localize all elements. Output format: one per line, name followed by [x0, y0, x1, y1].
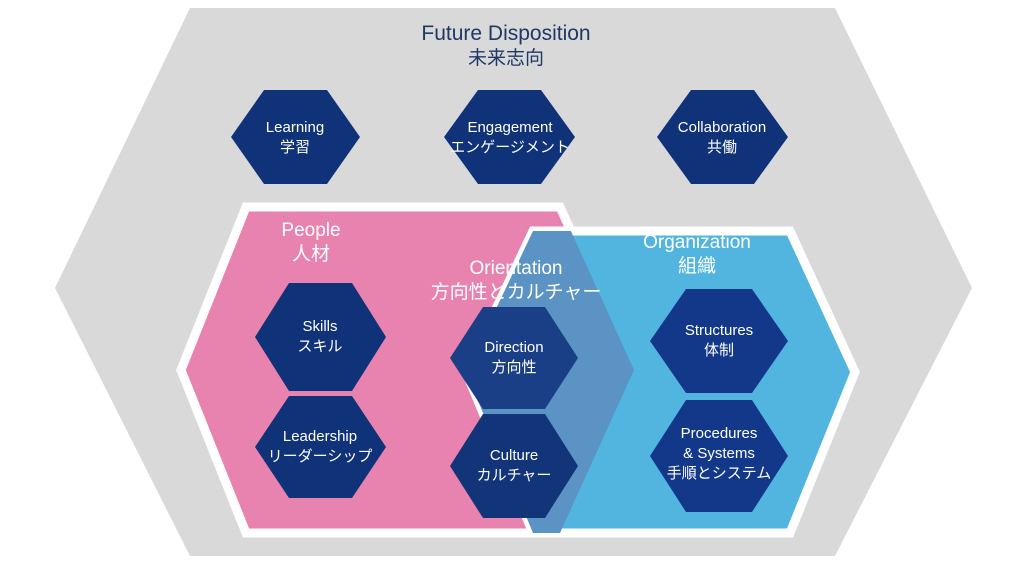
page-title-en: Future Disposition: [421, 22, 590, 45]
node-skills-label-jp: スキル: [297, 338, 342, 355]
node-leadership-label-en: Leadership: [283, 428, 357, 445]
future-disposition-diagram: Future Disposition 未来志向 Learning 学習 Enga…: [0, 0, 1024, 576]
diagram-canvas: Future Disposition 未来志向 Learning 学習 Enga…: [0, 0, 1024, 576]
node-structures-label-en: Structures: [685, 322, 753, 339]
group-label-organization-jp: 組織: [678, 255, 716, 277]
node-skills-label-en: Skills: [302, 318, 337, 335]
group-label-orientation-jp: 方向性とカルチャー: [431, 281, 602, 303]
group-label-organization-en: Organization: [643, 232, 751, 253]
node-systems-label-en: & Systems: [683, 445, 755, 462]
page-title-jp: 未来志向: [468, 47, 544, 69]
group-label-orientation-en: Orientation: [470, 258, 563, 279]
group-label-people-jp: 人材: [292, 243, 330, 265]
node-culture-label-en: Culture: [490, 447, 538, 464]
top-node-collaboration-label-en: Collaboration: [678, 119, 766, 136]
node-procedures-label-en: Procedures: [681, 425, 758, 442]
top-node-collaboration-label-jp: 共働: [707, 139, 737, 156]
node-leadership-label-jp: リーダーシップ: [268, 448, 373, 465]
node-structures-label-jp: 体制: [704, 342, 734, 359]
top-node-learning-label-jp: 学習: [280, 139, 310, 156]
group-label-people-en: People: [281, 220, 340, 241]
node-procedures-systems-label-jp: 手順とシステム: [667, 465, 772, 482]
top-node-engagement-label-jp: エンゲージメント: [450, 139, 570, 156]
node-direction-label-en: Direction: [484, 339, 543, 356]
top-node-learning-label-en: Learning: [266, 119, 324, 136]
node-direction-label-jp: 方向性: [491, 359, 536, 376]
node-culture-label-jp: カルチャー: [477, 467, 552, 484]
top-node-engagement-label-en: Engagement: [467, 119, 553, 136]
